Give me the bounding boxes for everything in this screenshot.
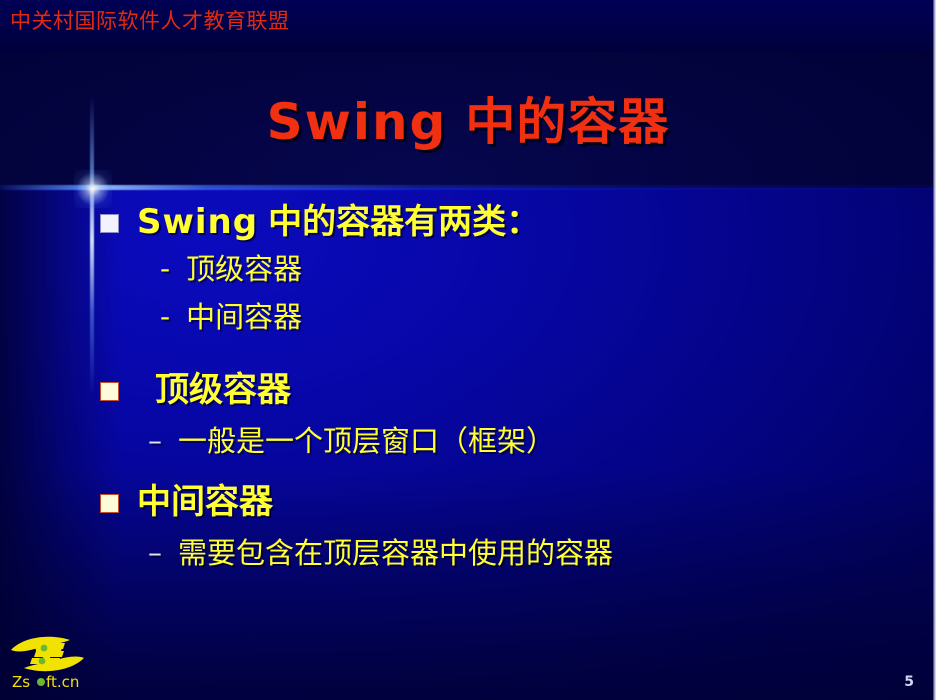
dash-icon: - [160, 300, 170, 334]
square-bullet-icon [100, 382, 119, 401]
sub-bullet-1-1-label: 顶级容器 [186, 252, 302, 286]
sub-bullet-1-1: - 顶级容器 [160, 252, 302, 286]
dash-icon: - [160, 252, 170, 286]
square-bullet-icon [100, 494, 119, 513]
dash-icon: – [148, 536, 162, 570]
bullet-item-1-en: Swing [137, 202, 258, 242]
bullet-item-3-label: 中间容器 [137, 482, 273, 522]
page-title-en: Swing [267, 93, 448, 151]
slide: 中关村国际软件人才教育联盟 Swing中的容器 Swing中的容器有两类： - … [0, 0, 936, 700]
svg-text:Zs: Zs [12, 673, 30, 691]
bullet-item-2-label: 顶级容器 [155, 370, 291, 410]
bullet-item-3: 中间容器 [100, 482, 273, 522]
dash-icon: – [148, 424, 162, 458]
page-title: Swing中的容器 [0, 82, 936, 154]
sub-bullet-1-2: - 中间容器 [160, 300, 302, 334]
sub-bullet-2-1-label: 一般是一个顶层窗口（框架） [178, 424, 555, 458]
bullet-item-1-label: Swing中的容器有两类： [137, 202, 540, 242]
bullet-item-1: Swing中的容器有两类： [100, 202, 540, 242]
sub-bullet-3-1-label: 需要包含在顶层容器中使用的容器 [178, 536, 613, 570]
zsoft-logo-icon: Zs ft.cn [8, 628, 94, 692]
sub-bullet-2-1: – 一般是一个顶层窗口（框架） [148, 424, 555, 458]
content-body: Swing中的容器有两类： - 顶级容器 - 中间容器 顶级容器 – 一般是一个… [0, 190, 936, 630]
bullet-item-1-zh: 中的容器有两类： [268, 202, 540, 242]
page-title-zh: 中的容器 [465, 93, 669, 151]
sub-bullet-1-2-label: 中间容器 [186, 300, 302, 334]
page-number: 5 [904, 674, 914, 690]
square-bullet-icon [100, 214, 119, 233]
svg-text:ft.cn: ft.cn [46, 673, 79, 691]
organization-name: 中关村国际软件人才教育联盟 [10, 7, 290, 35]
sub-bullet-3-1: – 需要包含在顶层容器中使用的容器 [148, 536, 613, 570]
slide-right-border [933, 0, 936, 700]
bullet-item-2: 顶级容器 [100, 370, 291, 410]
